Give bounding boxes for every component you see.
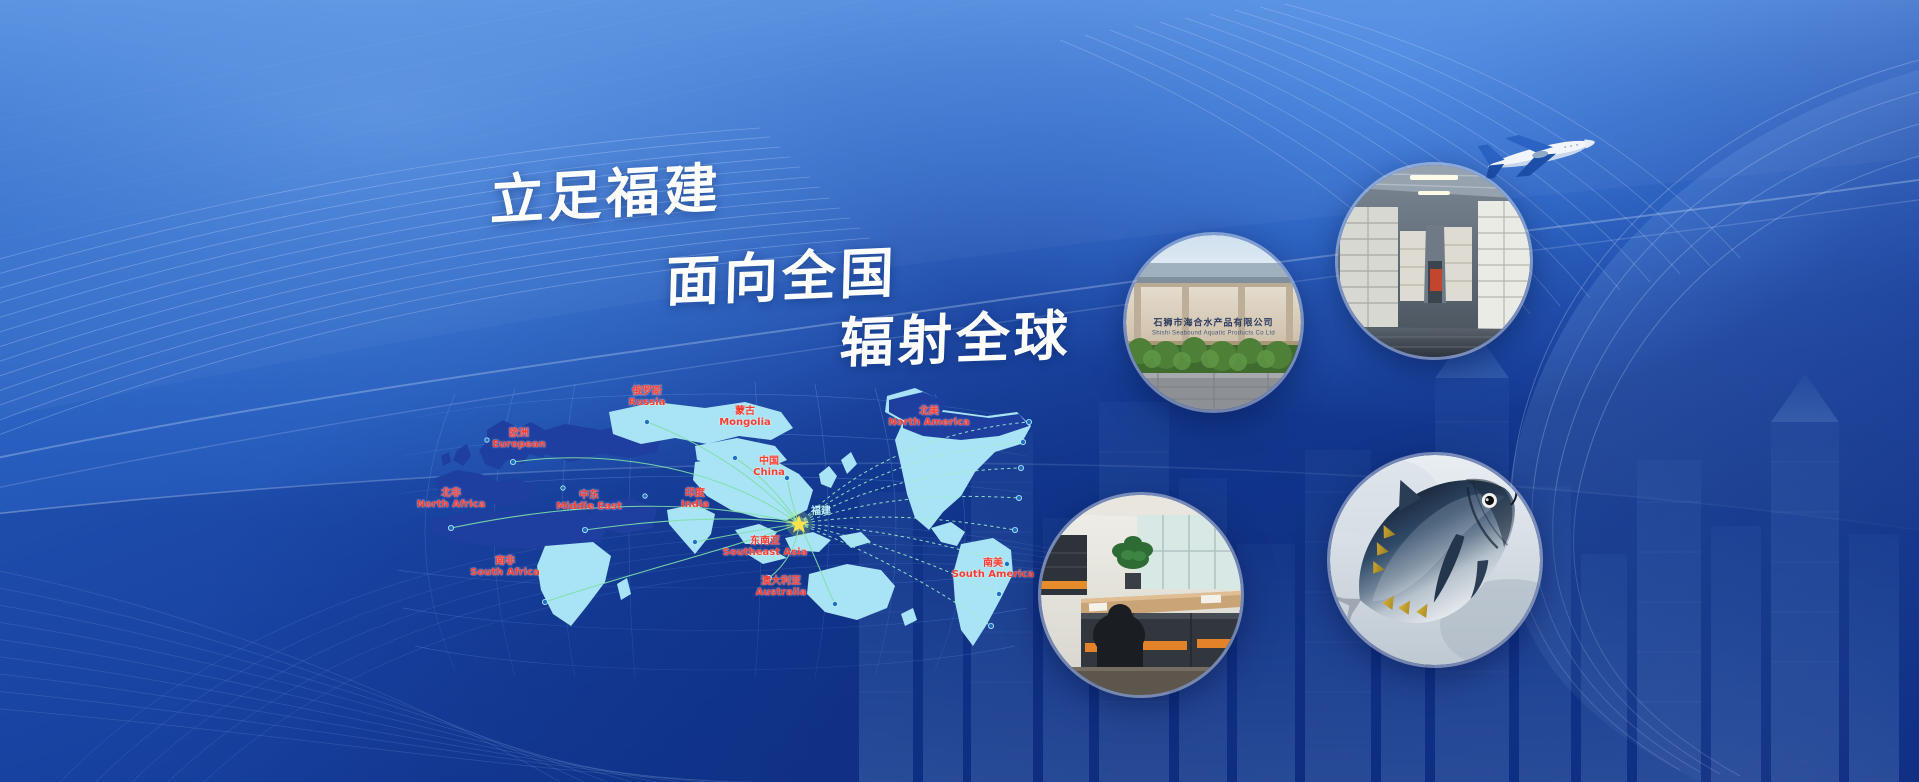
building-sign-en: Shishi Seabound Aquatic Products Co Ltd [1152, 331, 1275, 337]
map-label-en: European [492, 439, 546, 450]
cold-storage-warehouse-photo[interactable] [1338, 165, 1530, 357]
map-label-en: China [753, 467, 785, 478]
hero-banner: 立足福建 面向全国 辐射全球 [0, 0, 1919, 782]
map-label-en: India [681, 499, 709, 510]
map-label-mongolia: 蒙古 Mongolia [719, 406, 771, 428]
map-label-cn: 南美 [952, 558, 1035, 569]
map-label-cn: 印度 [681, 488, 709, 499]
map-label-cn: 东南亚 [723, 536, 808, 547]
map-hub-label: 福建 [811, 506, 831, 517]
map-label-en: South America [952, 569, 1035, 580]
airplane-icon [1478, 128, 1596, 180]
map-label-middle-east: 中东 Middle East [556, 490, 622, 512]
map-label-en: North America [888, 417, 970, 428]
map-label-north-africa: 北非 North Africa [417, 488, 486, 510]
map-label-en: Southeast Asia [723, 547, 808, 558]
map-label-cn: 俄罗斯 [629, 386, 666, 397]
map-label-india: 印度 India [681, 488, 709, 510]
map-label-south-africa: 南非 South Africa [470, 556, 540, 578]
map-label-cn: 北非 [417, 488, 486, 499]
map-label-en: North Africa [417, 499, 486, 510]
map-label-en: Russia [629, 397, 666, 408]
building-sign-cn: 石狮市海合水产品有限公司 [1152, 316, 1275, 329]
map-label-north-america: 北美 North America [888, 406, 970, 428]
world-distribution-map: 福建 俄罗斯 Russia 蒙古 Mongolia 中国 China 欧洲 Eu… [395, 378, 1035, 678]
map-label-south-america: 南美 South America [952, 558, 1035, 580]
cold-storage-image [1338, 165, 1530, 357]
map-label-china: 中国 China [753, 456, 785, 478]
map-label-cn: 欧洲 [492, 428, 546, 439]
map-label-cn: 蒙古 [719, 406, 771, 417]
map-label-european: 欧洲 European [492, 428, 546, 450]
map-label-russia: 俄罗斯 Russia [629, 386, 666, 408]
building-sign-text: 石狮市海合水产品有限公司 Shishi Seabound Aquatic Pro… [1152, 316, 1275, 337]
tuna-fish-photo[interactable] [1330, 455, 1540, 665]
map-label-cn: 中国 [753, 456, 785, 467]
map-label-southeast-asia: 东南亚 Southeast Asia [723, 536, 808, 558]
company-building-photo[interactable]: 石狮市海合水产品有限公司 Shishi Seabound Aquatic Pro… [1126, 235, 1301, 410]
office-interior-photo[interactable] [1041, 495, 1241, 695]
map-label-cn: 中东 [556, 490, 622, 501]
map-label-en: Australia [756, 587, 807, 598]
map-label-en: Middle East [556, 501, 622, 512]
map-label-en: Mongolia [719, 417, 771, 428]
tuna-fish-image [1330, 455, 1540, 665]
map-label-cn: 澳大利亚 [756, 576, 807, 587]
map-label-australia: 澳大利亚 Australia [756, 576, 807, 598]
map-label-cn: 南非 [470, 556, 540, 567]
map-label-cn: 北美 [888, 406, 970, 417]
map-label-en: South Africa [470, 567, 540, 578]
office-interior-image [1041, 495, 1241, 695]
